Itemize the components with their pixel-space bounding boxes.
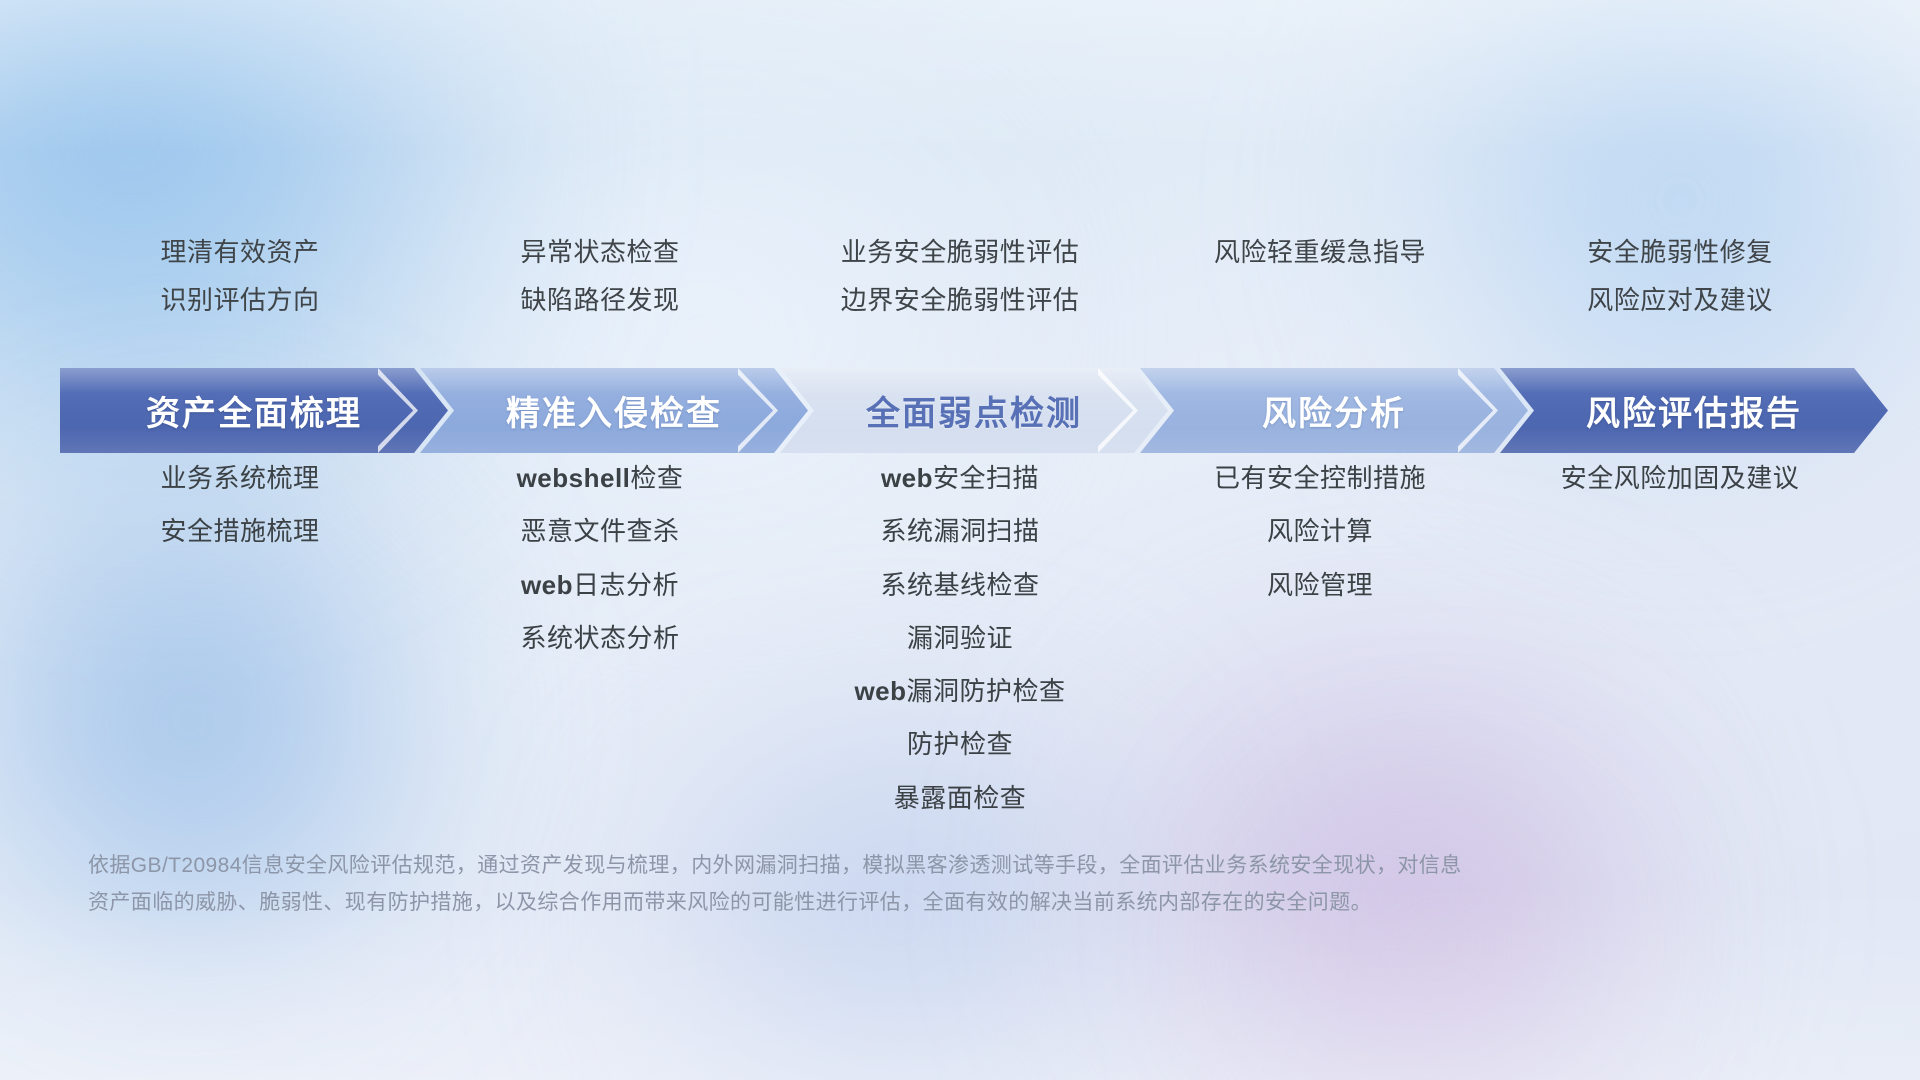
bottom-item: 系统状态分析 bbox=[520, 612, 679, 665]
bottom-items-col-2: webshell检查 恶意文件查杀 web日志分析 系统状态分析 bbox=[420, 452, 780, 825]
bottom-item-latin: web bbox=[521, 570, 573, 600]
process-step-label: 风险评估报告 bbox=[1586, 386, 1802, 435]
bottom-items-col-1: 业务系统梳理 安全措施梳理 bbox=[60, 452, 420, 825]
bottom-items-col-3: web安全扫描 系统漏洞扫描 系统基线检查 漏洞验证 web漏洞防护检查 防护检… bbox=[780, 452, 1140, 825]
bottom-item: 恶意文件查杀 bbox=[520, 505, 679, 558]
process-arrow-band: 资产全面梳理 精准入侵检查 全面弱点检测 风险分析 风险评估报告 bbox=[60, 368, 1860, 453]
bottom-item: web安全扫描 bbox=[881, 452, 1039, 505]
top-item: 识别评估方向 bbox=[160, 276, 319, 324]
process-step-label: 全面弱点检测 bbox=[866, 386, 1082, 435]
process-step-intrusion-check[interactable]: 精准入侵检查 bbox=[420, 368, 808, 453]
bottom-item-cjk: 漏洞防护检查 bbox=[907, 676, 1066, 706]
bottom-item: 业务系统梳理 bbox=[160, 452, 319, 505]
bottom-item-latin: web bbox=[854, 676, 906, 706]
bottom-item: 漏洞验证 bbox=[907, 612, 1013, 665]
process-step-weakness-detection[interactable]: 全面弱点检测 bbox=[780, 368, 1168, 453]
bottom-items-row: 业务系统梳理 安全措施梳理 webshell检查 恶意文件查杀 web日志分析 … bbox=[60, 452, 1860, 825]
top-items-col-3: 业务安全脆弱性评估 边界安全脆弱性评估 bbox=[780, 228, 1140, 324]
top-item: 风险应对及建议 bbox=[1587, 276, 1773, 324]
top-item: 风险轻重缓急指导 bbox=[1214, 228, 1426, 276]
bottom-item: 系统漏洞扫描 bbox=[880, 505, 1039, 558]
footer-description: 依据GB/T20984信息安全风险评估规范，通过资产发现与梳理，内外网漏洞扫描，… bbox=[88, 848, 1588, 922]
bottom-item-cjk: 日志分析 bbox=[573, 570, 679, 600]
top-item: 异常状态检查 bbox=[520, 228, 679, 276]
bottom-item: 已有安全控制措施 bbox=[1214, 452, 1426, 505]
top-item: 业务安全脆弱性评估 bbox=[841, 228, 1080, 276]
process-step-risk-report[interactable]: 风险评估报告 bbox=[1500, 368, 1888, 453]
bottom-item-cjk: 安全扫描 bbox=[933, 463, 1039, 493]
bottom-item-cjk: 检查 bbox=[630, 463, 683, 493]
bottom-item: 暴露面检查 bbox=[894, 772, 1027, 825]
bottom-item: 安全措施梳理 bbox=[160, 505, 319, 558]
top-items-col-2: 异常状态检查 缺陷路径发现 bbox=[420, 228, 780, 324]
process-step-risk-analysis[interactable]: 风险分析 bbox=[1140, 368, 1528, 453]
top-item: 理清有效资产 bbox=[160, 228, 319, 276]
top-items-col-1: 理清有效资产 识别评估方向 bbox=[60, 228, 420, 324]
process-step-asset-inventory[interactable]: 资产全面梳理 bbox=[60, 368, 448, 453]
footer-line: 资产面临的威胁、脆弱性、现有防护措施，以及综合作用而带来风险的可能性进行评估，全… bbox=[88, 885, 1588, 922]
top-item: 缺陷路径发现 bbox=[520, 276, 679, 324]
slide-canvas: 理清有效资产 识别评估方向 异常状态检查 缺陷路径发现 业务安全脆弱性评估 边界… bbox=[0, 0, 1920, 1080]
top-items-row: 理清有效资产 识别评估方向 异常状态检查 缺陷路径发现 业务安全脆弱性评估 边界… bbox=[60, 228, 1860, 324]
bottom-item-latin: webshell bbox=[517, 463, 631, 493]
slide-content: 理清有效资产 识别评估方向 异常状态检查 缺陷路径发现 业务安全脆弱性评估 边界… bbox=[0, 0, 1920, 1080]
bottom-item: webshell检查 bbox=[517, 452, 684, 505]
bottom-items-col-5: 安全风险加固及建议 bbox=[1500, 452, 1860, 825]
process-step-label: 风险分析 bbox=[1262, 386, 1406, 435]
footer-line: 依据GB/T20984信息安全风险评估规范，通过资产发现与梳理，内外网漏洞扫描，… bbox=[88, 848, 1588, 885]
bottom-item: 防护检查 bbox=[907, 718, 1013, 771]
process-step-label: 精准入侵检查 bbox=[506, 386, 722, 435]
top-items-col-5: 安全脆弱性修复 风险应对及建议 bbox=[1500, 228, 1860, 324]
bottom-item: 风险管理 bbox=[1267, 559, 1373, 612]
top-item: 安全脆弱性修复 bbox=[1587, 228, 1773, 276]
bottom-item: 系统基线检查 bbox=[880, 559, 1039, 612]
bottom-item: 风险计算 bbox=[1267, 505, 1373, 558]
bottom-item: 安全风险加固及建议 bbox=[1561, 452, 1800, 505]
bottom-items-col-4: 已有安全控制措施 风险计算 风险管理 bbox=[1140, 452, 1500, 825]
top-items-col-4: 风险轻重缓急指导 bbox=[1140, 228, 1500, 324]
bottom-item: web漏洞防护检查 bbox=[854, 665, 1065, 718]
bottom-item-latin: web bbox=[881, 463, 933, 493]
bottom-item: web日志分析 bbox=[521, 559, 679, 612]
process-step-label: 资产全面梳理 bbox=[146, 386, 362, 435]
top-item: 边界安全脆弱性评估 bbox=[841, 276, 1080, 324]
